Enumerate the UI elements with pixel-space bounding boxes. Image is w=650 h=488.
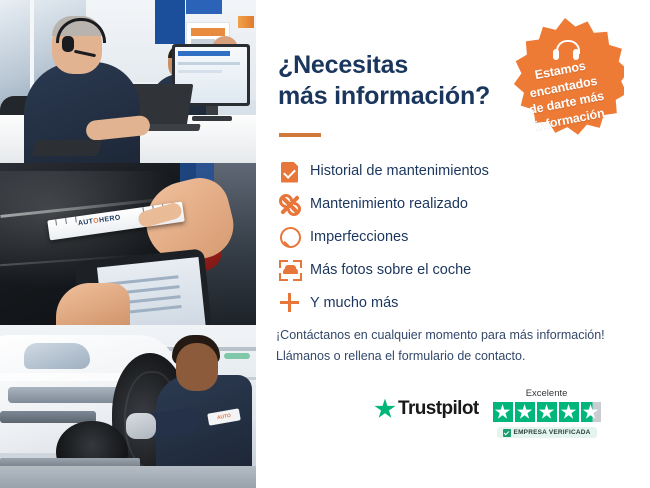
star-5-partial (581, 402, 601, 422)
feature-item-imperfections: Imperfecciones (276, 221, 606, 254)
feature-label: Mantenimiento realizado (310, 197, 468, 212)
page-title-line-1: ¿Necesitas (278, 50, 528, 81)
call-center-agents-photo (0, 0, 256, 163)
support-badge: Estamos encantados de darte más informac… (506, 18, 624, 136)
star-4 (559, 402, 579, 422)
agent-1-headset-earcup (62, 36, 74, 52)
workshop-green-hose (224, 353, 250, 359)
plus-icon (276, 291, 310, 317)
mechanic-head (176, 343, 218, 391)
magnifier-icon (276, 225, 310, 251)
trustpilot-logo: Trustpilot (374, 398, 479, 420)
car-headlight (24, 343, 90, 369)
trustpilot-brand-name: Trustpilot (398, 398, 479, 420)
blue-wall-panel (155, 0, 185, 44)
contact-copy: ¡Contáctanos en cualquier momento para m… (276, 325, 626, 366)
monitor-base (192, 116, 232, 121)
contact-line-1: ¡Contáctanos en cualquier momento para m… (276, 325, 626, 346)
desk-tablet (32, 140, 103, 156)
feature-label: Y mucho más (310, 296, 398, 311)
trustpilot-star-icon (374, 399, 396, 420)
car-grille (8, 387, 128, 403)
workshop-floor (0, 466, 256, 488)
headset-icon (553, 40, 579, 60)
blue-wall-panel-2 (186, 0, 222, 14)
star-2 (515, 402, 535, 422)
car-frame-icon (276, 258, 310, 284)
star-rating (493, 402, 601, 422)
car-inspection-ruler-photo: AUTOHERO (0, 163, 256, 326)
mechanic-glove (126, 413, 156, 439)
content-panel: ¿Necesitas más información? Estamos enca… (256, 0, 650, 488)
trustpilot-rating: Excelente EMPRESA VERIFICADA (493, 388, 601, 442)
verified-label: EMPRESA VERIFICADA (514, 429, 591, 436)
feature-label: Historial de mantenimientos (310, 164, 489, 179)
autohero-ruler-logo: AUTOHERO (78, 214, 122, 227)
page-title: ¿Necesitas más información? (278, 50, 528, 111)
feature-list: Historial de mantenimientos Mantenimient… (276, 155, 606, 320)
verified-check-icon (503, 429, 511, 437)
page-title-line-2: más información? (278, 81, 528, 112)
verified-company-badge: EMPRESA VERIFICADA (497, 427, 597, 438)
wrench-screwdriver-icon (276, 192, 310, 218)
document-check-icon (276, 159, 310, 185)
feature-item-much-more: Y mucho más (276, 287, 606, 320)
feature-label: Más fotos sobre el coche (310, 263, 471, 278)
contact-line-2: Llámanos o rellena el formulario de cont… (276, 346, 626, 367)
title-divider (279, 133, 321, 137)
information-banner: AUTOHERO (0, 0, 650, 488)
star-3 (537, 402, 557, 422)
feature-item-maintenance-history: Historial de mantenimientos (276, 155, 606, 188)
rating-label: Excelente (493, 388, 601, 399)
orange-decor (238, 16, 254, 28)
trustpilot-widget[interactable]: Trustpilot Excelente EMPRESA VERIFICADA (374, 388, 634, 442)
feature-label: Imperfecciones (310, 230, 408, 245)
photo-column: AUTOHERO (0, 0, 256, 488)
feature-item-more-photos: Más fotos sobre el coche (276, 254, 606, 287)
star-1 (493, 402, 513, 422)
feature-item-maintenance-done: Mantenimiento realizado (276, 188, 606, 221)
mechanic-wheel-photo: AUTO (0, 325, 256, 488)
